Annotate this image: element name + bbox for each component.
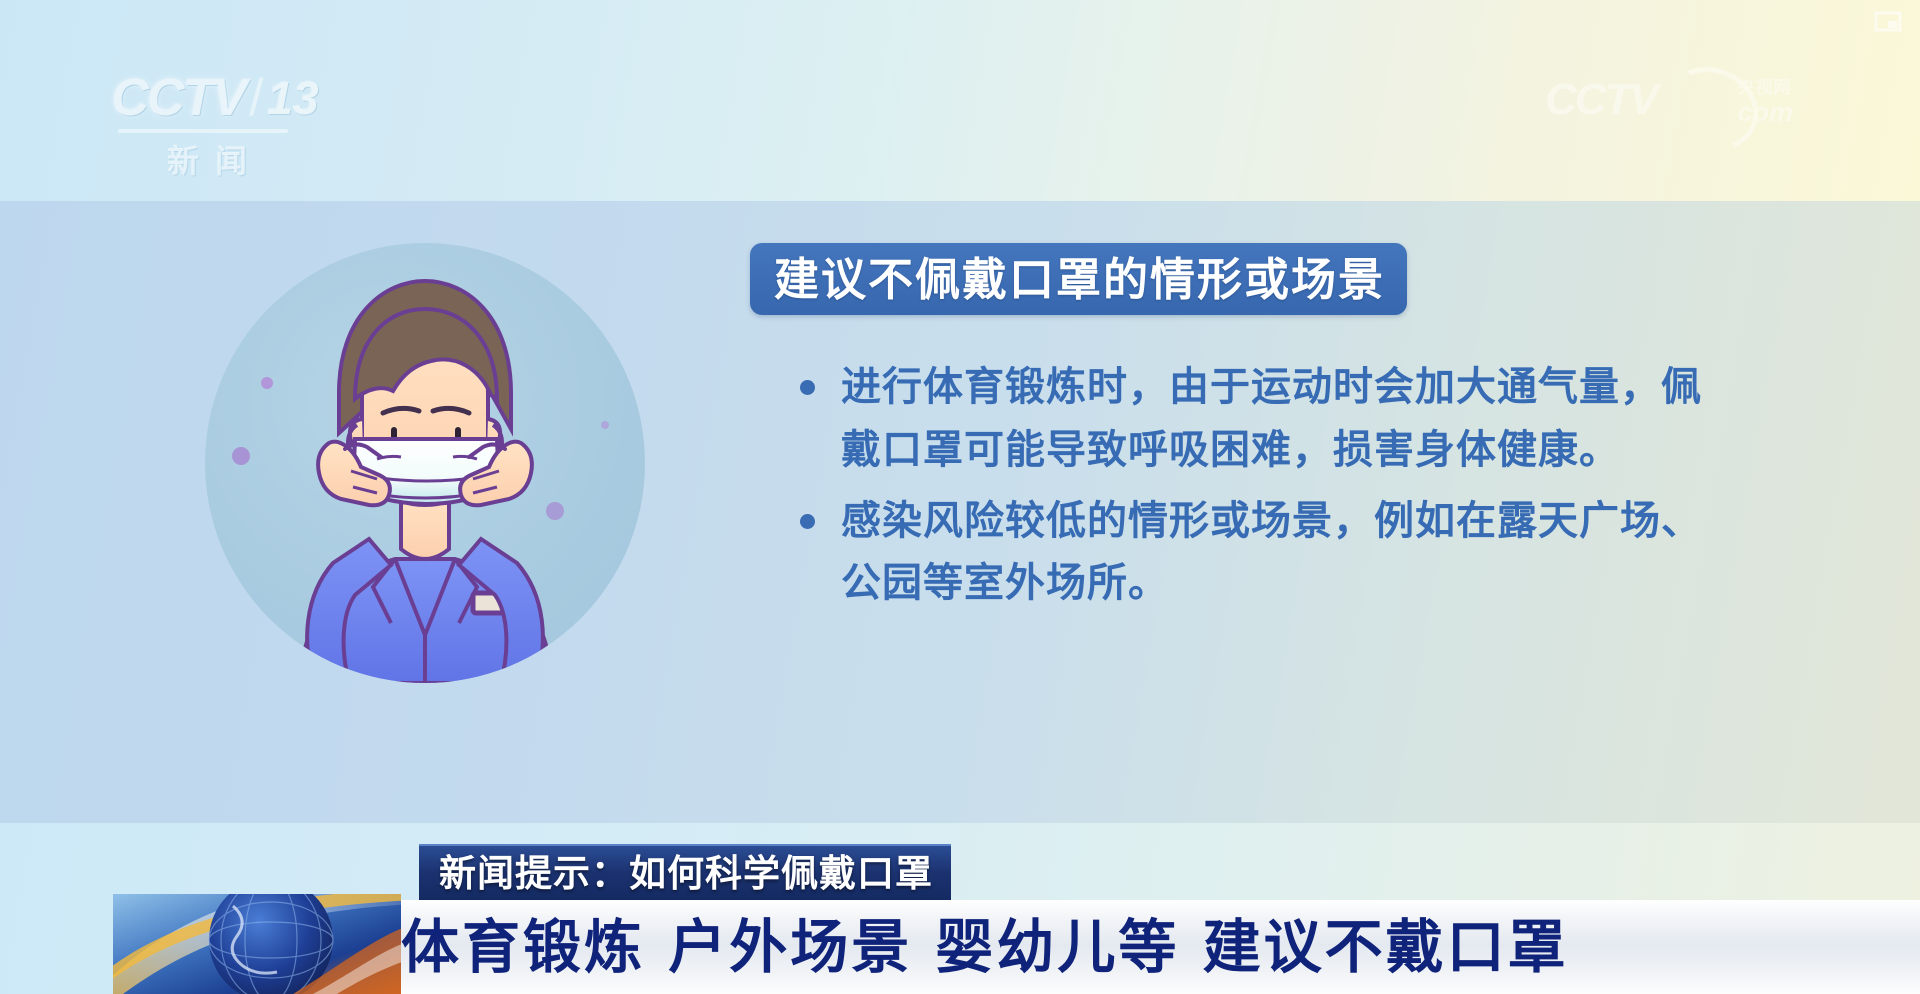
illustration-artwork — [205, 243, 645, 683]
lower-third-topic-strip: 新闻提示：如何科学佩戴口罩 — [419, 844, 951, 900]
bullet-text: 感染风险较低的情形或场景，例如在露天广场、公园等室外场所。 — [841, 490, 1720, 616]
lower-third: 新闻提示：如何科学佩戴口罩 体育锻炼 户外场景 婴幼儿等 建议不戴口罩 — [0, 838, 1920, 994]
broadcast-frame: CCTV / 13 新闻 CCTV 央视网 com — [0, 0, 1920, 994]
bullet-dot-icon — [800, 514, 815, 529]
illustration-person-wearing-mask — [205, 243, 645, 683]
slide-bullet-list: 进行体育锻炼时，由于运动时会加大通气量，佩戴口罩可能导致呼吸困难，损害身体健康。… — [800, 356, 1720, 623]
bullet-text: 进行体育锻炼时，由于运动时会加大通气量，佩戴口罩可能导致呼吸困难，损害身体健康。 — [841, 356, 1720, 482]
picture-in-picture-icon — [1874, 10, 1902, 32]
list-item: 进行体育锻炼时，由于运动时会加大通气量，佩戴口罩可能导致呼吸困难，损害身体健康。 — [800, 356, 1720, 482]
list-item: 感染风险较低的情形或场景，例如在露天广场、公园等室外场所。 — [800, 490, 1720, 616]
lower-third-headline: 体育锻炼 户外场景 婴幼儿等 建议不戴口罩 — [401, 918, 1569, 976]
slide-title-banner: 建议不佩戴口罩的情形或场景 — [750, 243, 1407, 315]
lower-third-topic: 新闻提示：如何科学佩戴口罩 — [439, 855, 933, 892]
cctv-news-globe-graphic — [113, 894, 401, 994]
background-band-top — [0, 0, 1920, 201]
slide-title: 建议不佩戴口罩的情形或场景 — [774, 257, 1385, 302]
bullet-dot-icon — [800, 380, 815, 395]
